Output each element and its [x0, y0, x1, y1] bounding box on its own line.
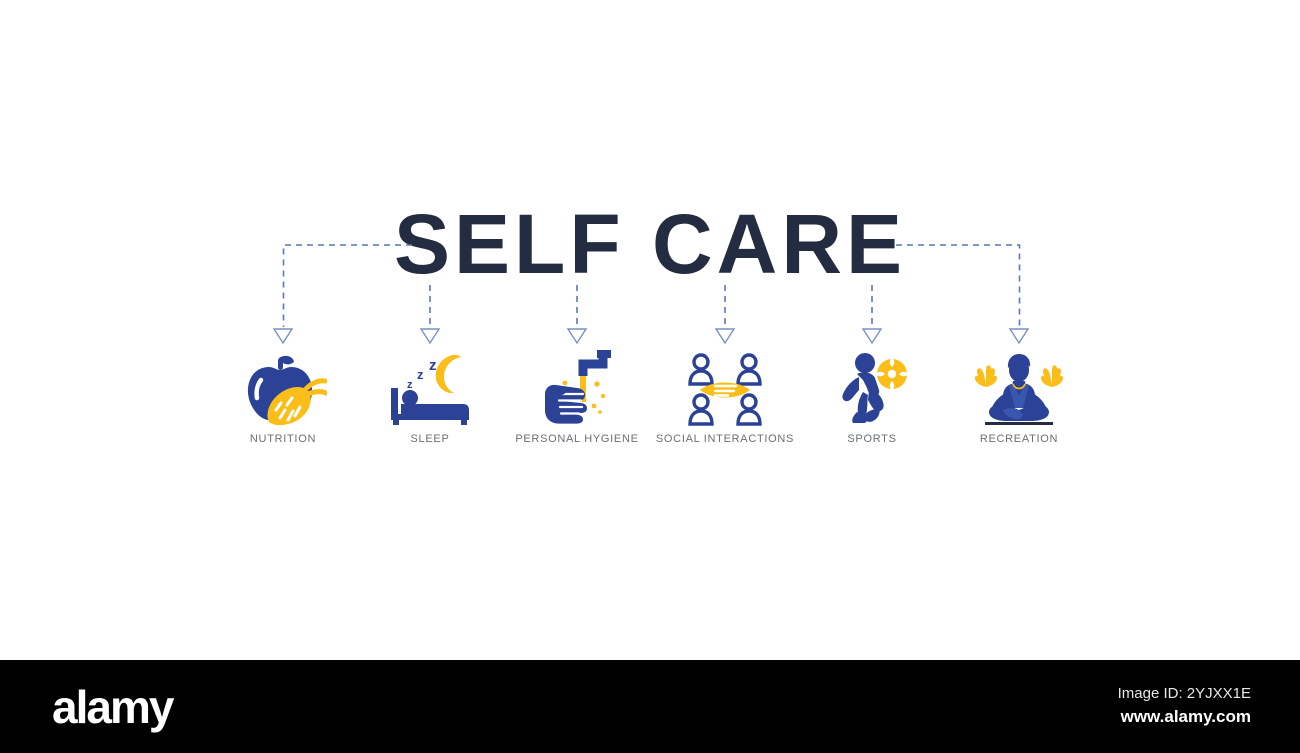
image-id-text: Image ID: 2YJXX1E	[1118, 685, 1251, 702]
soccer-player-ball-icon	[787, 348, 957, 426]
svg-text:z: z	[429, 357, 437, 374]
icon-label-nutrition: NUTRITION	[198, 433, 368, 445]
arrow-head-social-interactions	[716, 329, 734, 343]
watermark-bar: alamy	[0, 660, 1300, 753]
infographic-canvas: SELF CARE	[0, 0, 1300, 660]
alamy-url-text: www.alamy.com	[1121, 707, 1251, 727]
svg-text:z: z	[417, 367, 424, 382]
icon-item-social-interactions[interactable]: SOCIAL INTERACTIONS	[640, 348, 810, 445]
icon-item-nutrition[interactable]: NUTRITION	[198, 348, 368, 445]
handwashing-faucet-icon	[492, 348, 662, 426]
arrow-head-personal-hygiene	[568, 329, 586, 343]
arrow-head-recreation	[1010, 329, 1028, 343]
svg-text:z: z	[407, 379, 413, 391]
icon-label-personal-hygiene: PERSONAL HYGIENE	[492, 433, 662, 445]
alamy-logo: alamy	[52, 682, 172, 732]
arrow-head-sports	[863, 329, 881, 343]
arrow-head-nutrition	[274, 329, 292, 343]
people-chat-bubble-icon	[640, 348, 810, 426]
page-title: SELF CARE	[0, 196, 1300, 292]
icon-item-sports[interactable]: SPORTS	[787, 348, 957, 445]
icon-label-recreation: RECREATION	[934, 433, 1104, 445]
apple-carrot-icon	[198, 348, 368, 426]
icon-item-personal-hygiene[interactable]: PERSONAL HYGIENE	[492, 348, 662, 445]
icon-label-social-interactions: SOCIAL INTERACTIONS	[640, 433, 810, 445]
arrow-head-sleep	[421, 329, 439, 343]
icon-row: NUTRITION z z z	[0, 348, 1300, 458]
bed-moon-zzz-icon: z z z	[345, 348, 515, 426]
icon-item-sleep[interactable]: z z z SLEEP	[345, 348, 515, 445]
icon-label-sleep: SLEEP	[345, 433, 515, 445]
meditation-lotus-icon	[934, 348, 1104, 426]
icon-label-sports: SPORTS	[787, 433, 957, 445]
icon-item-recreation[interactable]: RECREATION	[934, 348, 1104, 445]
connector-lines	[0, 0, 1300, 660]
